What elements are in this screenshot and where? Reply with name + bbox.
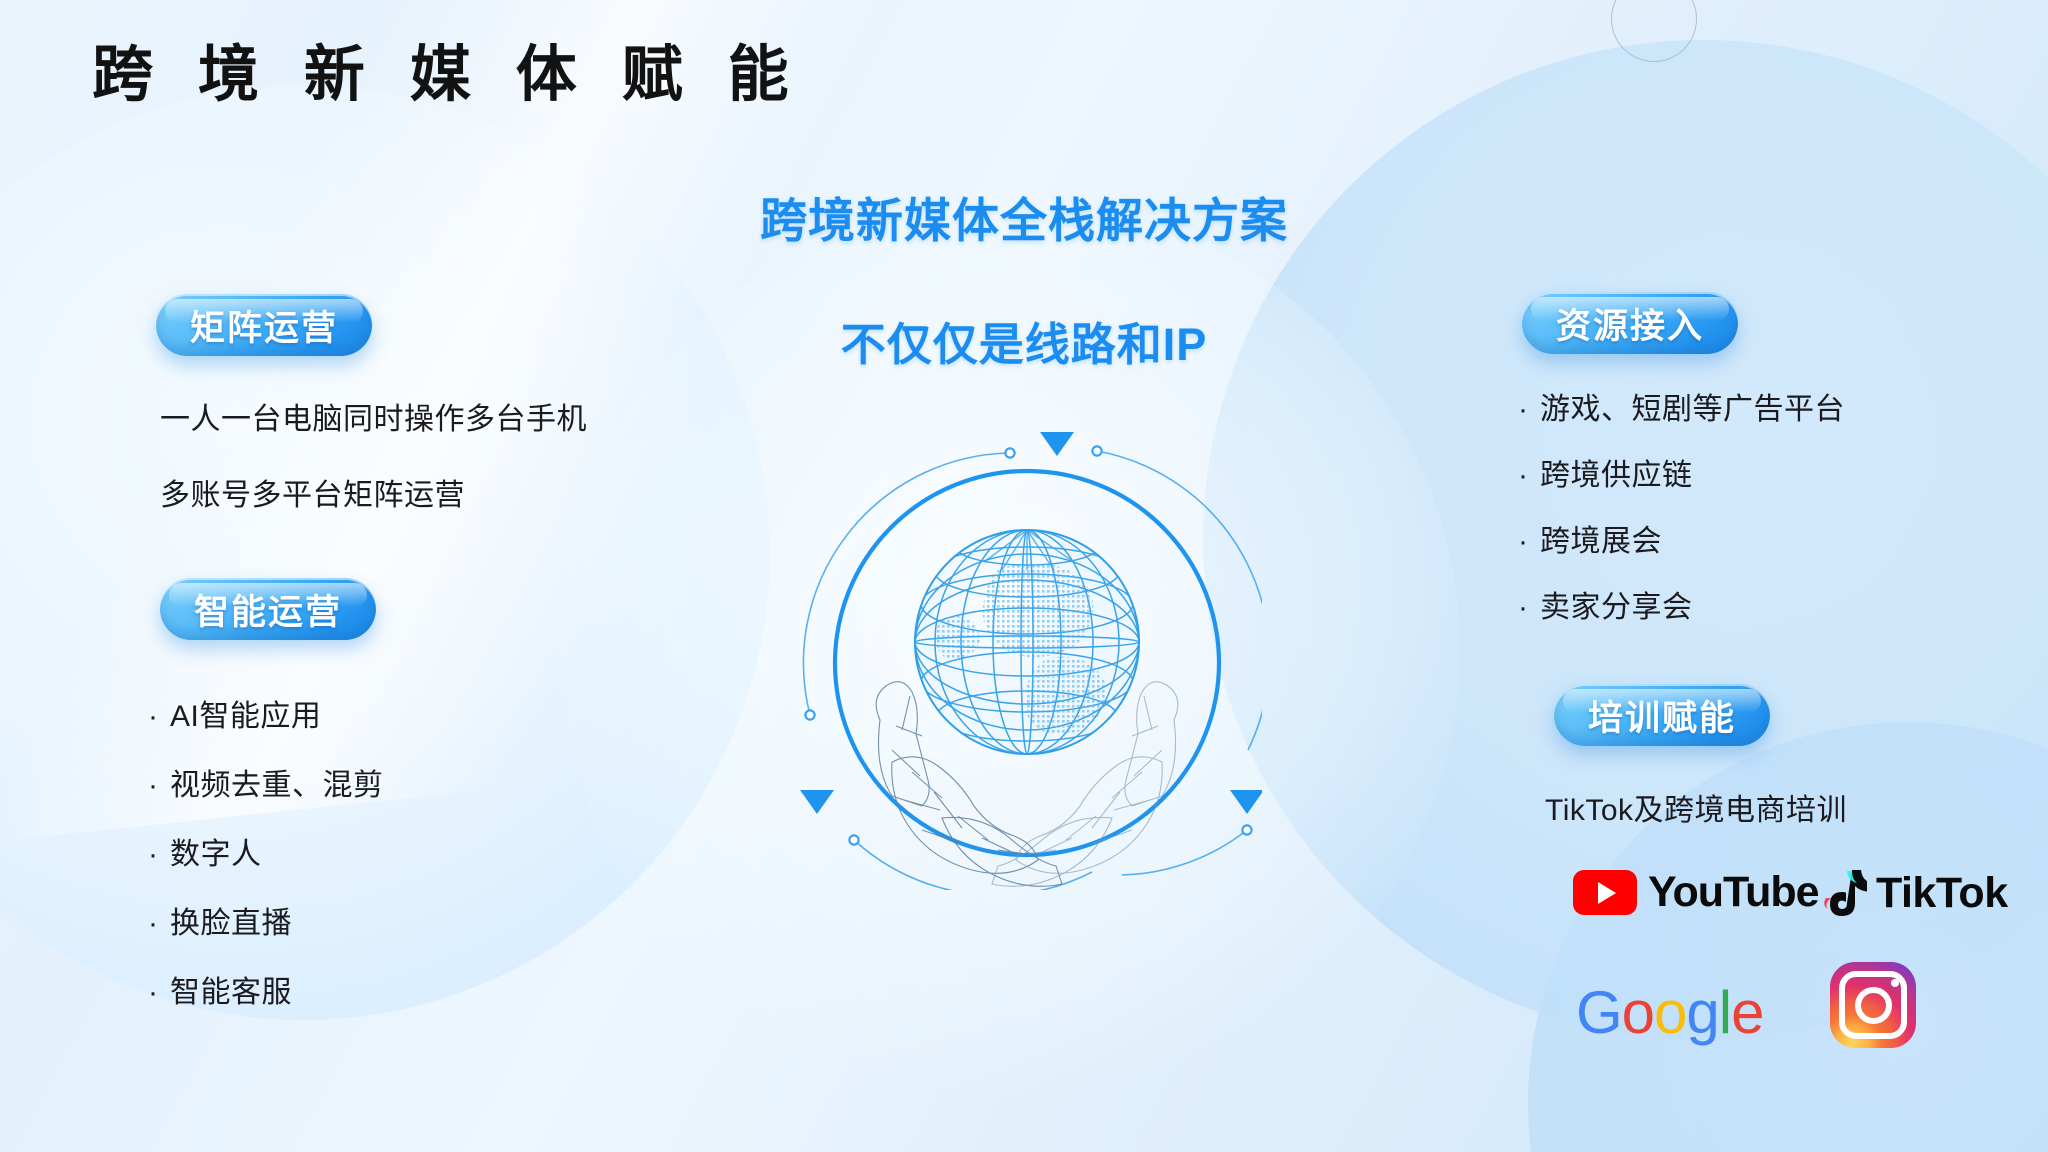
google-letter-o2: o — [1654, 979, 1686, 1046]
left-bullet-1-1-label: 视频去重、混剪 — [170, 769, 384, 802]
background-blob-left — [0, 85, 770, 1020]
tiktok-logo[interactable]: TikTok — [1821, 868, 2008, 918]
google-letter-l: l — [1719, 979, 1731, 1046]
left-bullet-1-0: ·AI智能应用 — [148, 702, 321, 732]
google-letter-g2: g — [1686, 979, 1718, 1046]
google-logo[interactable]: Google — [1576, 978, 1764, 1047]
google-letter-g1: G — [1576, 979, 1622, 1046]
left-bullet-1-2-label: 数字人 — [170, 838, 262, 871]
google-letter-e: e — [1731, 979, 1763, 1046]
pill-matrix-operations[interactable]: 矩阵运营 — [156, 294, 372, 356]
youtube-label: YouTube — [1648, 868, 1819, 917]
google-letter-o1: o — [1622, 979, 1654, 1046]
right-bullet-0-3: ·卖家分享会 — [1518, 593, 1693, 623]
bullet-dot-icon: · — [1518, 593, 1540, 623]
instagram-flash-dot-icon — [1891, 979, 1899, 987]
bullet-dot-icon: · — [148, 702, 170, 732]
bullet-dot-icon: · — [1518, 395, 1540, 425]
decorative-ring-icon — [1611, 0, 1697, 62]
globe-in-hands-graphic — [792, 420, 1262, 890]
right-bullet-0-2-label: 跨境展会 — [1540, 525, 1662, 558]
left-bullet-1-4-label: 智能客服 — [170, 976, 292, 1009]
bullet-dot-icon: · — [148, 909, 170, 939]
instagram-logo[interactable] — [1830, 962, 1916, 1048]
right-bullet-0-1: ·跨境供应链 — [1518, 461, 1693, 491]
bullet-dot-icon: · — [148, 840, 170, 870]
left-bullet-1-3-label: 换脸直播 — [170, 907, 292, 940]
left-bullet-1-3: ·换脸直播 — [148, 909, 292, 939]
youtube-logo[interactable]: YouTube — [1573, 868, 1819, 917]
right-text-1-0: TikTok及跨境电商培训 — [1545, 796, 1847, 826]
background-blob-right-lower — [1528, 722, 2048, 1152]
tiktok-label: TikTok — [1876, 869, 2008, 918]
left-bullet-1-4: ·智能客服 — [148, 978, 292, 1008]
right-bullet-0-0-label: 游戏、短剧等广告平台 — [1540, 393, 1845, 426]
pill-training-empowerment[interactable]: 培训赋能 — [1554, 684, 1770, 746]
slide-canvas: 跨 境 新 媒 体 赋 能 跨境新媒体全栈解决方案 不仅仅是线路和IP — [0, 0, 2048, 1152]
right-bullet-0-0: ·游戏、短剧等广告平台 — [1518, 395, 1845, 425]
left-bullet-1-2: ·数字人 — [148, 840, 262, 870]
right-bullet-0-1-label: 跨境供应链 — [1540, 459, 1693, 492]
bullet-dot-icon: · — [148, 978, 170, 1008]
pill-resource-access[interactable]: 资源接入 — [1522, 292, 1738, 354]
pill-smart-operations[interactable]: 智能运营 — [160, 578, 376, 640]
tiktok-note-icon — [1821, 868, 1867, 918]
bullet-dot-icon: · — [148, 771, 170, 801]
right-bullet-0-2: ·跨境展会 — [1518, 527, 1662, 557]
bullet-dot-icon: · — [1518, 527, 1540, 557]
left-bullet-1-0-label: AI智能应用 — [170, 700, 321, 733]
center-heading-secondary: 不仅仅是线路和IP — [841, 308, 1208, 373]
right-bullet-0-3-label: 卖家分享会 — [1540, 591, 1693, 624]
left-bullet-1-1: ·视频去重、混剪 — [148, 771, 384, 801]
page-title: 跨 境 新 媒 体 赋 能 — [92, 36, 803, 112]
left-text-0-1: 多账号多平台矩阵运营 — [160, 481, 465, 511]
left-text-0-0: 一人一台电脑同时操作多台手机 — [160, 405, 587, 435]
bullet-dot-icon: · — [1518, 461, 1540, 491]
center-heading-primary: 跨境新媒体全栈解决方案 — [760, 182, 1288, 251]
youtube-play-icon — [1573, 870, 1637, 915]
